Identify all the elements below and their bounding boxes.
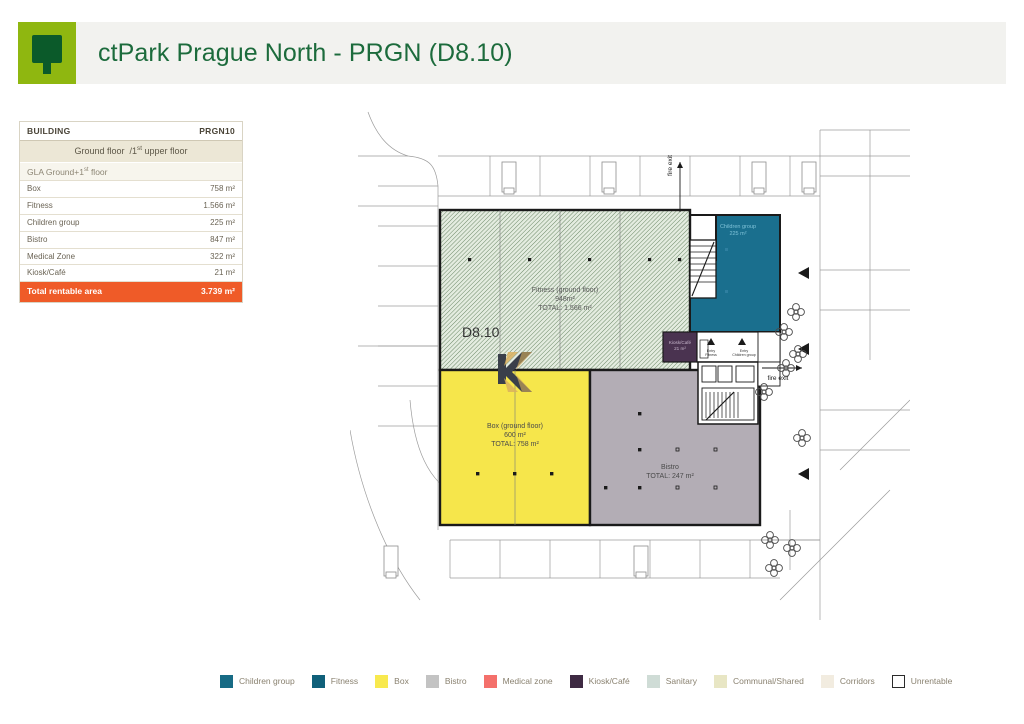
area-label-box-line2: 600 m² (504, 432, 526, 439)
area-label-fitness-line1: Fitness (ground floor) (532, 287, 599, 294)
row-label-bistro: Bistro (27, 236, 47, 245)
total-value: 3.739 m² (201, 287, 235, 296)
area-box[interactable]: Box (ground floor) 600 m² TOTAL: 758 m² (440, 370, 590, 525)
area-fitness[interactable]: Fitness (ground floor) 948m² TOTAL: 1.56… (440, 210, 690, 370)
area-label-kiosk-line2: 21 m² (674, 346, 686, 351)
row-label-box: Box (27, 185, 41, 194)
row-value-fitness: 1.566 m² (203, 202, 235, 211)
floor-plan-drawing: Fitness (ground floor) 948m² TOTAL: 1.56… (350, 100, 910, 620)
legend-label-box: Box (394, 676, 409, 686)
annotation-fire-exit-top: fire exit (667, 155, 683, 212)
area-label-box-line1: Box (ground floor) (487, 423, 543, 430)
fire-exit-top-label: fire exit (667, 155, 674, 176)
legend-item-corridors: Corridors (821, 675, 875, 688)
unit-code-label: D8.10 (462, 324, 500, 340)
table-header-row: BUILDING PRGN10 (20, 122, 242, 141)
legend-item-bistro: Bistro (426, 675, 467, 688)
page-title: ctPark Prague North - PRGN (D8.10) (76, 22, 513, 84)
legend-item-box: Box (375, 675, 409, 688)
legend-swatch-bistro (426, 675, 439, 688)
area-label-kiosk-line1: Kiosk/Café (669, 340, 692, 345)
row-label-medical-zone: Medical Zone (27, 253, 75, 262)
annotation-entry-fitness-l2: Fitness (705, 353, 717, 357)
stair-core-lower (698, 362, 758, 424)
area-label-fitness-line2: 948m² (555, 296, 576, 303)
legend-swatch-communal-shared (714, 675, 727, 688)
table-subheader-label: Ground floor /1st upper floor (75, 146, 188, 157)
area-label-fitness-line3: TOTAL: 1.566 m² (538, 305, 592, 312)
legend-swatch-box (375, 675, 388, 688)
table-gla-row: GLA Ground+1st floor (20, 163, 242, 181)
legend-label-unrentable: Unrentable (911, 676, 953, 686)
legend-item-children-group: Children group (220, 675, 295, 688)
legend-label-bistro: Bistro (445, 676, 467, 686)
row-label-children-group: Children group (27, 219, 79, 228)
table-row: Kiosk/Café 21 m² (20, 265, 242, 282)
table-header-label: BUILDING (27, 127, 70, 136)
legend-item-kiosk-cafe: Kiosk/Café (570, 675, 630, 688)
legend-swatch-sanitary (647, 675, 660, 688)
row-label-kiosk-cafe: Kiosk/Café (27, 269, 66, 278)
table-row: Fitness 1.566 m² (20, 198, 242, 215)
stair-core-upper (690, 240, 716, 298)
legend-label-children-group: Children group (239, 676, 295, 686)
total-label: Total rentable area (27, 287, 102, 296)
row-value-kiosk-cafe: 21 m² (215, 269, 235, 278)
legend-item-medical-zone: Medical zone (484, 675, 553, 688)
legend-label-fitness: Fitness (331, 676, 358, 686)
viewpoint-triangle-icon (798, 267, 809, 480)
legend-swatch-unrentable (892, 675, 905, 688)
legend-label-corridors: Corridors (840, 676, 875, 686)
row-value-medical-zone: 322 m² (210, 253, 235, 262)
legend-label-medical-zone: Medical zone (503, 676, 553, 686)
legend: Children group Fitness Box Bistro Medica… (220, 670, 1010, 692)
table-row: Children group 225 m² (20, 215, 242, 232)
area-kiosk-cafe[interactable]: Kiosk/Café 21 m² (663, 332, 697, 362)
area-label-bistro-line2: TOTAL: 247 m² (646, 473, 694, 480)
legend-swatch-children-group (220, 675, 233, 688)
legend-swatch-medical-zone (484, 675, 497, 688)
legend-label-kiosk-cafe: Kiosk/Café (589, 676, 630, 686)
legend-swatch-fitness (312, 675, 325, 688)
table-row: Box 758 m² (20, 181, 242, 198)
table-row: Medical Zone 322 m² (20, 249, 242, 266)
annotation-entry-children-l2: Children group (732, 353, 756, 357)
table-gla-label: GLA Ground+1st floor (27, 167, 107, 177)
area-label-box-line3: TOTAL: 758 m² (491, 441, 539, 448)
legend-item-communal-shared: Communal/Shared (714, 675, 804, 688)
legend-label-sanitary: Sanitary (666, 676, 697, 686)
row-value-children-group: 225 m² (210, 219, 235, 228)
legend-item-sanitary: Sanitary (647, 675, 697, 688)
legend-label-communal-shared: Communal/Shared (733, 676, 804, 686)
area-label-bistro-line1: Bistro (661, 464, 679, 471)
building-area-table: BUILDING PRGN10 Ground floor /1st upper … (19, 121, 243, 303)
legend-swatch-kiosk-cafe (570, 675, 583, 688)
row-label-fitness: Fitness (27, 202, 53, 211)
table-subheader-row: Ground floor /1st upper floor (20, 141, 242, 163)
floorplan-page: ctPark Prague North - PRGN (D8.10) BUILD… (0, 0, 1024, 724)
legend-item-unrentable: Unrentable (892, 675, 953, 688)
table-row: Bistro 847 m² (20, 232, 242, 249)
page-header: ctPark Prague North - PRGN (D8.10) (18, 22, 1006, 84)
area-label-children-line1: Children group (720, 224, 756, 230)
legend-swatch-corridors (821, 675, 834, 688)
legend-item-fitness: Fitness (312, 675, 358, 688)
table-total-row: Total rentable area 3.739 m² (20, 282, 242, 301)
row-value-box: 758 m² (210, 185, 235, 194)
row-value-bistro: 847 m² (210, 236, 235, 245)
area-label-children-line2: 225 m² (729, 231, 746, 237)
ctp-logo-icon (18, 22, 76, 84)
table-header-value: PRGN10 (199, 127, 235, 136)
